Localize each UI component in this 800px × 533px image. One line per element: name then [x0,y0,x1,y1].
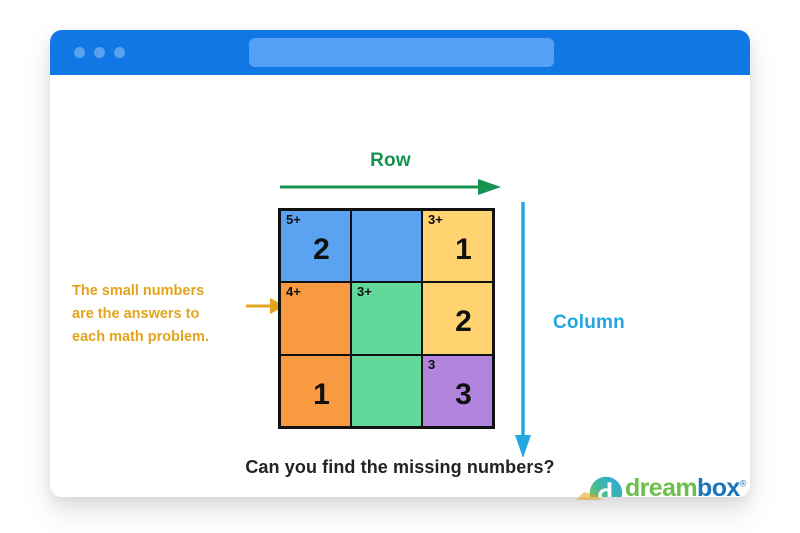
grid-cell-answer: 1 [313,380,330,410]
maximize-dot-icon[interactable] [114,47,125,58]
logo-trademark: ® [740,479,746,489]
grid-cell-r1c1[interactable]: 5+2 [281,211,350,281]
grid-cell-r1c3[interactable]: 3+1 [423,211,492,281]
annotation-line-2: are the answers to [72,303,240,326]
dreambox-logo: dreambox® By Discovery Education [589,474,719,497]
grid-cell-clue: 5+ [286,213,301,227]
grid-cell-answer: 3 [455,380,472,410]
dreambox-wordmark: dreambox® [625,476,746,497]
grid-cell-answer: 2 [455,307,472,337]
grid-cell-clue: 3+ [428,213,443,227]
close-dot-icon[interactable] [74,47,85,58]
grid-cell-r1c2[interactable] [352,211,421,281]
minimize-dot-icon[interactable] [94,47,105,58]
logo-word-box: box [697,474,740,497]
grid-cell-answer: 1 [455,235,472,265]
annotation-line-1: The small numbers [72,280,240,303]
row-arrow-icon [278,177,503,197]
decorative-sliver-icon [576,492,602,500]
column-arrow-icon [515,200,547,460]
logo-word-dream: dream [625,474,697,497]
column-direction-indicator: Column [515,200,630,460]
row-label: Row [278,150,503,172]
grid-cell-r3c1[interactable]: 1 [281,356,350,426]
grid-cell-clue: 4+ [286,285,301,299]
browser-titlebar [50,30,750,75]
grid-cell-r2c3[interactable]: 2 [423,283,492,353]
grid-cell-answer: 2 [313,235,330,265]
grid-cell-r2c1[interactable]: 4+ [281,283,350,353]
grid-cell-clue: 3 [428,358,435,372]
grid-cell-r3c3[interactable]: 33 [423,356,492,426]
column-label: Column [553,312,625,334]
puzzle-grid[interactable]: 5+23+14+3+2133 [278,208,495,429]
window-controls [74,47,125,58]
grid-cell-clue: 3+ [357,285,372,299]
annotation-line-3: each math problem. [72,326,240,349]
grid-cell-r3c2[interactable] [352,356,421,426]
annotation-text: The small numbers are the answers to eac… [72,280,240,349]
row-direction-indicator: Row [278,150,503,200]
grid-cell-r2c2[interactable]: 3+ [352,283,421,353]
screenshot-stage: Row Column The small numbers are the ans… [0,0,800,533]
browser-window-card: Row Column The small numbers are the ans… [50,30,750,497]
lesson-canvas: Row Column The small numbers are the ans… [50,75,750,497]
address-bar-input[interactable] [249,38,554,67]
